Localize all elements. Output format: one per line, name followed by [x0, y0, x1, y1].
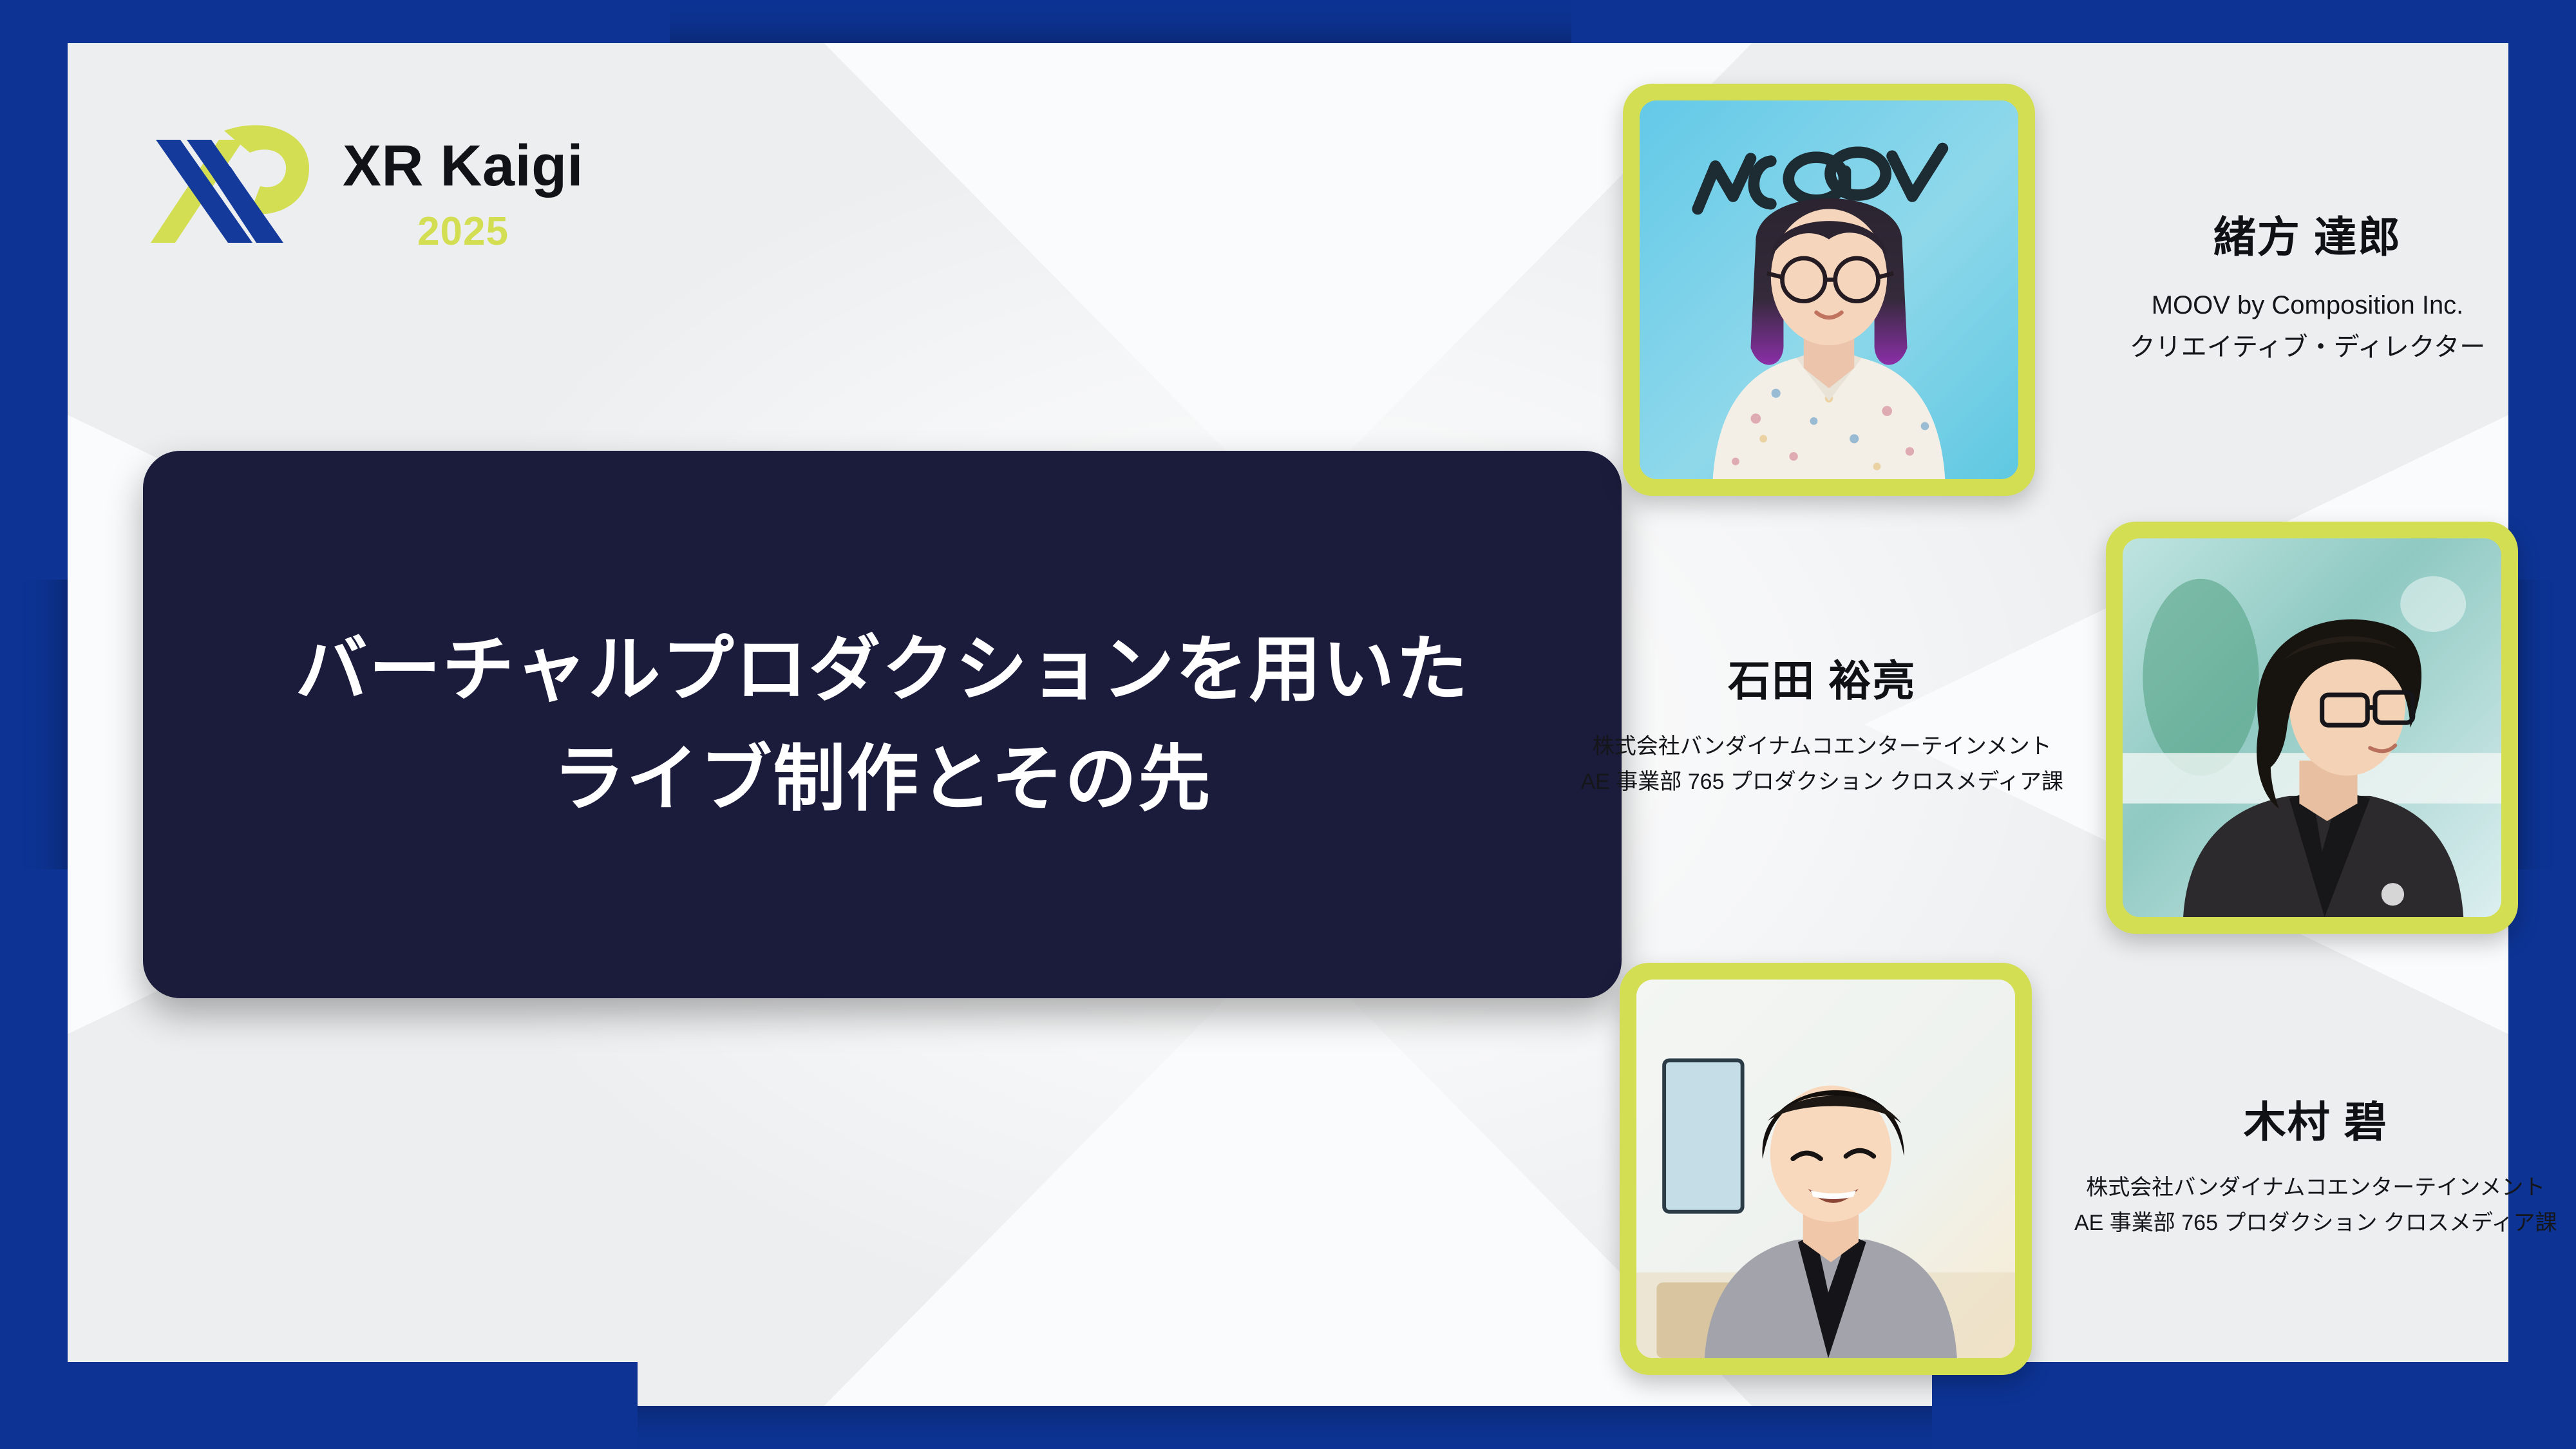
speaker-org-1-line2: クリエイティブ・ディレクター	[2078, 327, 2537, 368]
brand-logo: XR Kaigi 2025	[147, 119, 583, 254]
speaker-info-3: 木村 碧 株式会社バンダイナムコエンターテインメント AE 事業部 765 プロ…	[2032, 1097, 2557, 1240]
corner-bracket-top-right-horizontal	[1571, 0, 2576, 43]
corner-bracket-bottom-left-vertical	[0, 869, 68, 1449]
speaker-org-3-line1: 株式会社バンダイナムコエンターテインメント	[2074, 1170, 2557, 1206]
slide-root: XR Kaigi 2025 バーチャルプロダクションを用いた ライブ制作とその先	[0, 0, 2576, 1449]
brand-logo-year: 2025	[417, 212, 509, 252]
speaker-photo-1	[1640, 100, 2018, 479]
speaker-info-1: 緒方 達郎 MOOV by Composition Inc. クリエイティブ・デ…	[2035, 212, 2537, 368]
speaker-info-2: 石田 裕亮 株式会社バンダイナムコエンターテインメント AE 事業部 765 プ…	[1581, 656, 2107, 799]
speaker-name-2: 石田 裕亮	[1581, 656, 2064, 706]
speaker-org-3-line2: AE 事業部 765 プロダクション クロスメディア課	[2074, 1206, 2557, 1241]
brand-logo-text: XR Kaigi 2025	[343, 119, 583, 252]
xr-kaigi-logo-mark-icon	[147, 119, 316, 254]
speaker-photo-2	[2123, 538, 2501, 917]
speaker-org-1-line1: MOOV by Composition Inc.	[2078, 285, 2537, 327]
speaker-name-3: 木村 碧	[2074, 1097, 2557, 1148]
speaker-org-2-line2: AE 事業部 765 プロダクション クロスメディア課	[1581, 764, 2064, 800]
speaker-card-3: 木村 碧 株式会社バンダイナムコエンターテインメント AE 事業部 765 プロ…	[1620, 963, 2547, 1375]
speaker-photo-frame-2	[2106, 522, 2518, 934]
corner-bracket-bottom-left-horizontal	[0, 1362, 638, 1449]
speaker-photo-frame-3	[1620, 963, 2032, 1375]
speaker-photo-frame-1	[1623, 84, 2035, 496]
presentation-title-card: バーチャルプロダクションを用いた ライブ制作とその先	[143, 451, 1622, 998]
speaker-org-2-line1: 株式会社バンダイナムコエンターテインメント	[1581, 729, 2064, 764]
presentation-title-line-1: バーチャルプロダクションを用いた	[296, 615, 1470, 724]
corner-bracket-top-left-horizontal	[0, 0, 670, 43]
corner-bracket-bottom-right-horizontal	[1932, 1362, 2576, 1449]
presentation-title-line-2: ライブ制作とその先	[553, 724, 1212, 834]
speaker-photo-3	[1636, 980, 2015, 1358]
brand-logo-title: XR Kaigi	[343, 137, 583, 195]
speaker-name-1: 緒方 達郎	[2078, 212, 2537, 263]
corner-bracket-top-left-vertical	[0, 0, 68, 580]
speaker-card-2: 石田 裕亮 株式会社バンダイナムコエンターテインメント AE 事業部 765 プ…	[1597, 522, 2518, 934]
speaker-card-1: 緒方 達郎 MOOV by Composition Inc. クリエイティブ・デ…	[1623, 84, 2537, 496]
